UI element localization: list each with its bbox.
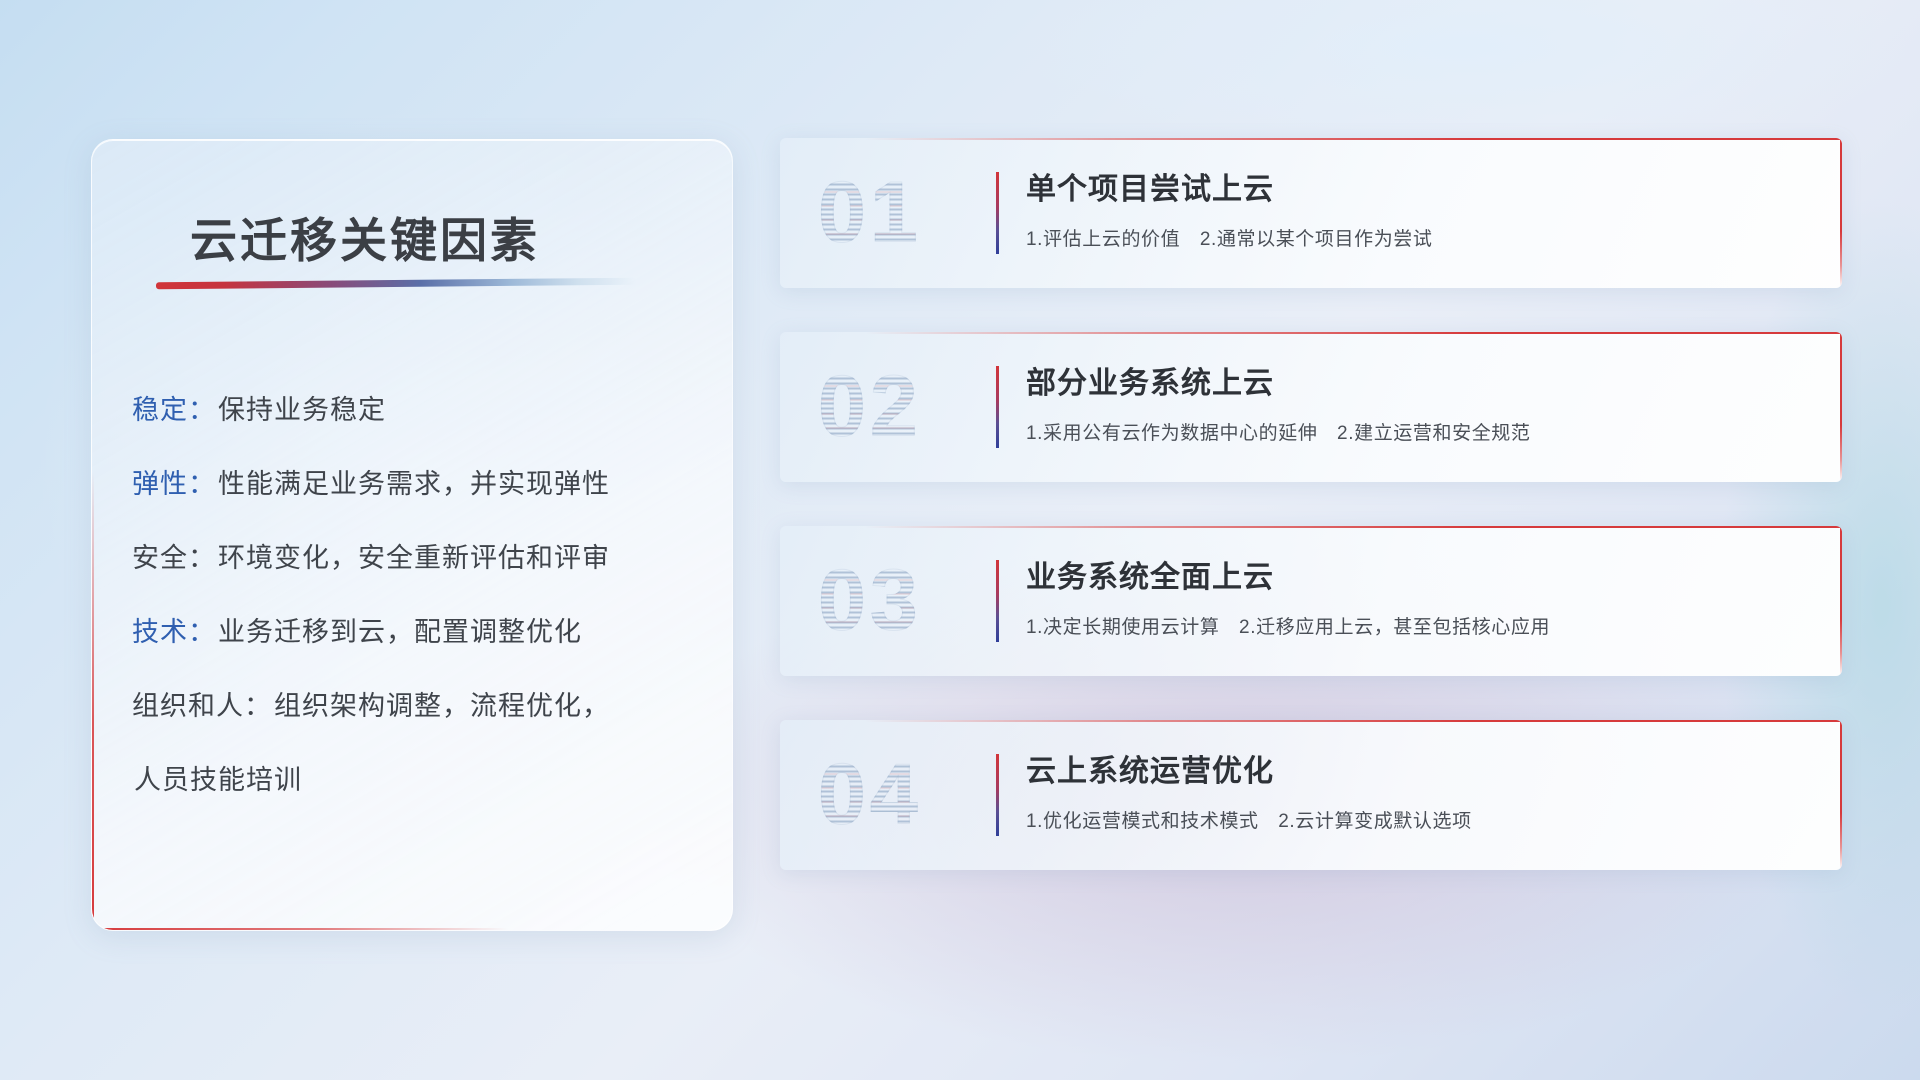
- stage-card-04[interactable]: 04 04 云上系统运营优化 1.优化运营模式和技术模式 2.云计算变成默认选项: [780, 720, 1842, 870]
- card-right-accent-border: [1840, 720, 1842, 870]
- card-divider-bar: [996, 172, 999, 254]
- key-factors-panel: 云迁移关键因素 稳定： 保持业务稳定 弹性： 性能满足业务需求，并实现弹性 安全…: [91, 139, 733, 931]
- card-divider-bar: [996, 366, 999, 448]
- card-right-accent-border: [1840, 526, 1842, 676]
- card-divider-bar: [996, 754, 999, 836]
- factor-label: 安全：: [132, 536, 216, 575]
- list-item: 弹性： 性能满足业务需求，并实现弹性: [132, 444, 702, 518]
- card-divider-bar: [996, 560, 999, 642]
- card-top-accent-border: [865, 526, 1842, 528]
- card-right-accent-border: [1840, 332, 1842, 482]
- stage-number-ghost: 04: [818, 746, 922, 845]
- factor-description: 保持业务稳定: [218, 388, 386, 427]
- stage-subtitle: 1.采用公有云作为数据中心的延伸 2.建立运营和安全规范: [1026, 418, 1812, 445]
- card-text-block: 单个项目尝试上云 1.评估上云的价值 2.通常以某个项目作为尝试: [1026, 164, 1812, 251]
- factor-label: 组织和人：: [132, 684, 272, 723]
- stage-subtitle: 1.决定长期使用云计算 2.迁移应用上云，甚至包括核心应用: [1026, 612, 1812, 639]
- list-item: 技术： 业务迁移到云，配置调整优化: [132, 592, 702, 666]
- factor-description: 组织架构调整，流程优化，: [274, 684, 610, 723]
- list-item: 人员技能培训: [132, 740, 702, 814]
- factor-list: 稳定： 保持业务稳定 弹性： 性能满足业务需求，并实现弹性 安全： 环境变化，安…: [132, 370, 702, 814]
- card-top-accent-border: [865, 332, 1842, 334]
- factor-description: 性能满足业务需求，并实现弹性: [218, 462, 610, 501]
- stage-card-03[interactable]: 03 03 业务系统全面上云 1.决定长期使用云计算 2.迁移应用上云，甚至包括…: [780, 526, 1842, 676]
- list-item: 安全： 环境变化，安全重新评估和评审: [132, 518, 702, 592]
- stage-subtitle: 1.优化运营模式和技术模式 2.云计算变成默认选项: [1026, 806, 1812, 833]
- stage-number-ghost: 01: [818, 164, 922, 263]
- panel-bottom-accent-line: [92, 928, 508, 930]
- factor-label: 技术：: [132, 610, 216, 649]
- card-top-accent-border: [865, 720, 1842, 722]
- list-item: 稳定： 保持业务稳定: [132, 370, 702, 444]
- stage-title: 部分业务系统上云: [1026, 358, 1812, 402]
- stage-number-ghost: 02: [818, 358, 922, 457]
- stage-card-01[interactable]: 01 01 单个项目尝试上云 1.评估上云的价值 2.通常以某个项目作为尝试: [780, 138, 1842, 288]
- stage-title: 云上系统运营优化: [1026, 746, 1812, 790]
- stage-card-02[interactable]: 02 02 部分业务系统上云 1.采用公有云作为数据中心的延伸 2.建立运营和安…: [780, 332, 1842, 482]
- panel-left-accent-line: [92, 472, 94, 930]
- title-underline-rule: [156, 278, 636, 290]
- stage-title: 单个项目尝试上云: [1026, 164, 1812, 208]
- card-top-accent-border: [865, 138, 1842, 140]
- list-item: 组织和人： 组织架构调整，流程优化，: [132, 666, 702, 740]
- card-text-block: 业务系统全面上云 1.决定长期使用云计算 2.迁移应用上云，甚至包括核心应用: [1026, 552, 1812, 639]
- stage-card-list: 01 01 单个项目尝试上云 1.评估上云的价值 2.通常以某个项目作为尝试 0…: [780, 138, 1842, 914]
- factor-label: 稳定：: [132, 388, 216, 427]
- stage-subtitle: 1.评估上云的价值 2.通常以某个项目作为尝试: [1026, 224, 1812, 251]
- factor-description: 人员技能培训: [134, 758, 302, 797]
- stage-title: 业务系统全面上云: [1026, 552, 1812, 596]
- factor-description: 环境变化，安全重新评估和评审: [218, 536, 610, 575]
- card-text-block: 部分业务系统上云 1.采用公有云作为数据中心的延伸 2.建立运营和安全规范: [1026, 358, 1812, 445]
- page-title: 云迁移关键因素: [190, 202, 540, 271]
- stage-number-ghost: 03: [818, 552, 922, 651]
- card-text-block: 云上系统运营优化 1.优化运营模式和技术模式 2.云计算变成默认选项: [1026, 746, 1812, 833]
- factor-label: 弹性：: [132, 462, 216, 501]
- factor-description: 业务迁移到云，配置调整优化: [218, 610, 582, 649]
- card-right-accent-border: [1840, 138, 1842, 288]
